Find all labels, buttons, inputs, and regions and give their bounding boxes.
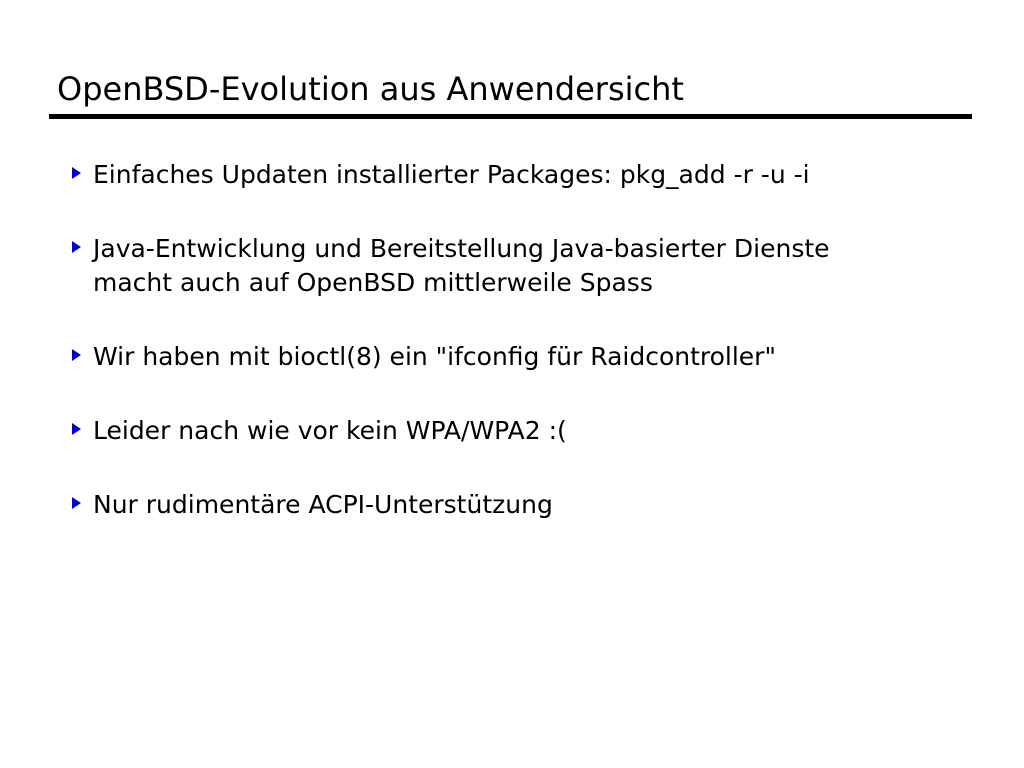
list-item: Wir haben mit bioctl(8) ein "ifconfig fü… (72, 340, 972, 374)
presentation-slide: OpenBSD-Evolution aus Anwendersicht Einf… (0, 0, 1024, 768)
list-item: Leider nach wie vor kein WPA/WPA2 :( (72, 414, 972, 448)
triangle-right-icon (72, 349, 81, 361)
bullet-list: Einfaches Updaten installierter Packages… (72, 158, 972, 522)
triangle-right-icon (72, 497, 81, 509)
triangle-right-icon (72, 423, 81, 435)
title-underline-rule (49, 114, 972, 119)
triangle-right-icon (72, 241, 81, 253)
list-item: Nur rudimentäre ACPI-Unterstützung (72, 488, 972, 522)
list-item: Einfaches Updaten installierter Packages… (72, 158, 972, 192)
page-title: OpenBSD-Evolution aus Anwendersicht (49, 70, 974, 108)
list-item: Java-Entwicklung und Bereitstellung Java… (72, 232, 972, 300)
list-item-label: Einfaches Updaten installierter Packages… (93, 158, 972, 192)
list-item-label: Wir haben mit bioctl(8) ein "ifconfig fü… (93, 340, 972, 374)
list-item-label: Leider nach wie vor kein WPA/WPA2 :( (93, 414, 972, 448)
list-item-label: Java-Entwicklung und Bereitstellung Java… (93, 232, 972, 300)
slide-header: OpenBSD-Evolution aus Anwendersicht (49, 70, 974, 119)
list-item-label: Nur rudimentäre ACPI-Unterstützung (93, 488, 972, 522)
triangle-right-icon (72, 167, 81, 179)
